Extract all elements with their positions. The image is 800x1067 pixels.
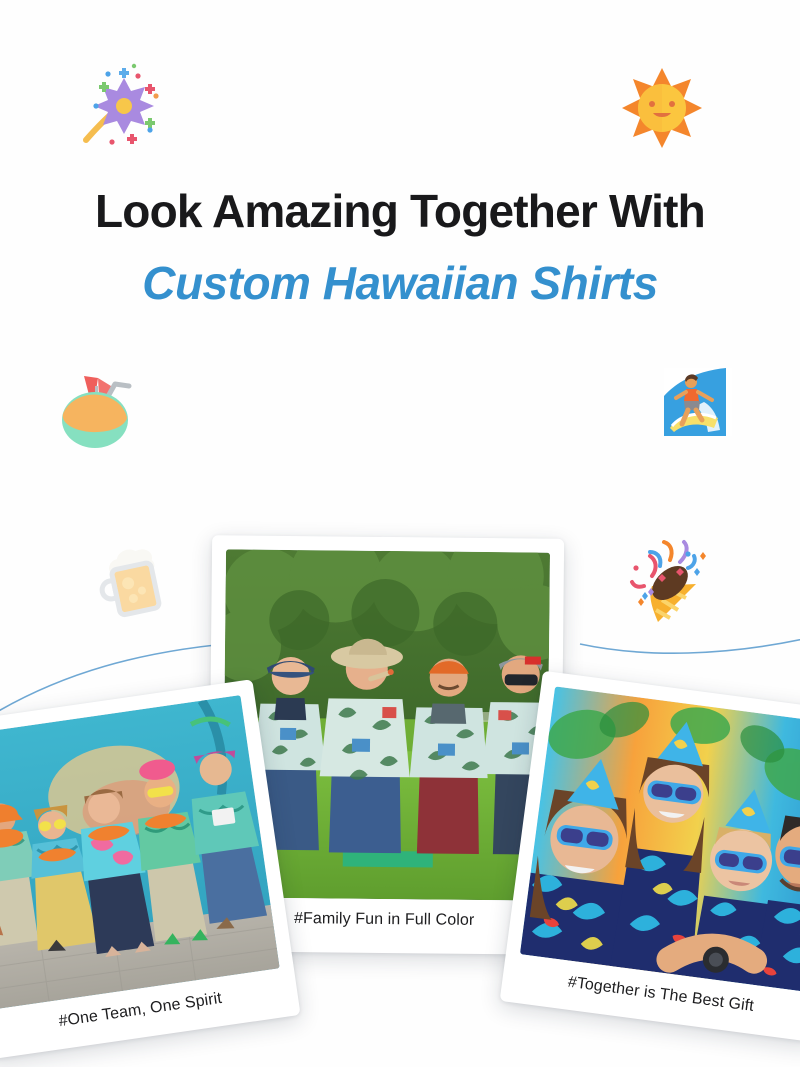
- headline-block: Look Amazing Together With Custom Hawaii…: [0, 186, 800, 309]
- surfer-icon: [664, 368, 732, 436]
- sun-icon: [620, 66, 704, 150]
- beer-mug-icon: [92, 540, 176, 624]
- magic-wand-icon: [72, 58, 168, 154]
- photo-right: [520, 686, 800, 992]
- party-popper-icon: [622, 538, 712, 628]
- photo-card-left[interactable]: #One Team, One Spirit: [0, 679, 301, 1060]
- photo-card-right[interactable]: #Together is The Best Gift: [500, 671, 800, 1043]
- hero-banner: Look Amazing Together With Custom Hawaii…: [0, 0, 800, 1067]
- headline-accent: Custom Hawaiian Shirts: [0, 258, 800, 310]
- headline-primary: Look Amazing Together With: [0, 186, 800, 238]
- photo-left: [0, 695, 280, 1009]
- tropical-drink-icon: [55, 364, 137, 450]
